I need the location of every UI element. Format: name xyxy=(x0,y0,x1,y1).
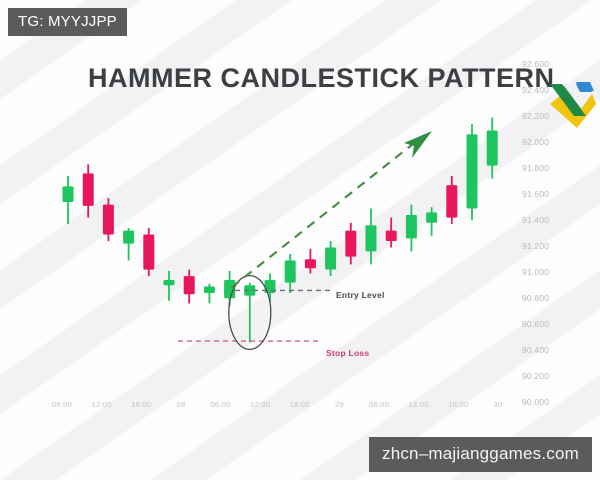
time-tick: 18:00 xyxy=(131,400,151,409)
candle-body xyxy=(325,248,336,270)
candle-body xyxy=(366,225,377,251)
time-tick: 12:00 xyxy=(409,400,429,409)
uptrend-arrow-head xyxy=(404,131,432,158)
candle-body xyxy=(386,231,397,241)
time-tick: 06:00 xyxy=(369,400,389,409)
candle-series xyxy=(63,118,498,343)
entry-level-label: Entry Level xyxy=(336,290,385,300)
site-watermark-badge: zhcn–majianggames.com xyxy=(369,437,592,472)
candle-body xyxy=(305,259,316,268)
candle-body xyxy=(406,215,417,238)
uptrend-trendline xyxy=(232,140,418,287)
time-tick: 30 xyxy=(494,400,503,409)
candle-body xyxy=(103,205,114,235)
time-axis: 06:0012:0018:002806:0012:0018:002906:001… xyxy=(40,400,520,416)
candle-body xyxy=(184,276,195,294)
candle-body xyxy=(83,173,94,206)
time-tick: 18:00 xyxy=(448,400,468,409)
candle-body xyxy=(204,287,215,294)
candle-body xyxy=(164,280,175,285)
candle-body xyxy=(446,185,457,218)
candle-body xyxy=(285,261,296,283)
candle-body xyxy=(467,134,478,208)
telegram-watermark-badge: TG: MYYJJPP xyxy=(8,8,127,36)
time-tick: 28 xyxy=(176,400,185,409)
time-tick: 06:00 xyxy=(210,400,230,409)
time-tick: 29 xyxy=(335,400,344,409)
screenshot-root: HAMMER CANDLESTICK PATTERN 92.600 92.400… xyxy=(0,0,600,480)
candle-body xyxy=(143,235,154,270)
time-tick: 12:00 xyxy=(250,400,270,409)
stop-loss-label: Stop Loss xyxy=(326,348,369,358)
time-tick: 18:00 xyxy=(290,400,310,409)
time-tick: 12:00 xyxy=(91,400,111,409)
time-tick: 06:00 xyxy=(52,400,72,409)
candle-body xyxy=(426,212,437,222)
candle-body xyxy=(345,231,356,257)
candle-body xyxy=(63,186,74,202)
candle-body xyxy=(487,131,498,166)
candle-body xyxy=(123,231,134,244)
